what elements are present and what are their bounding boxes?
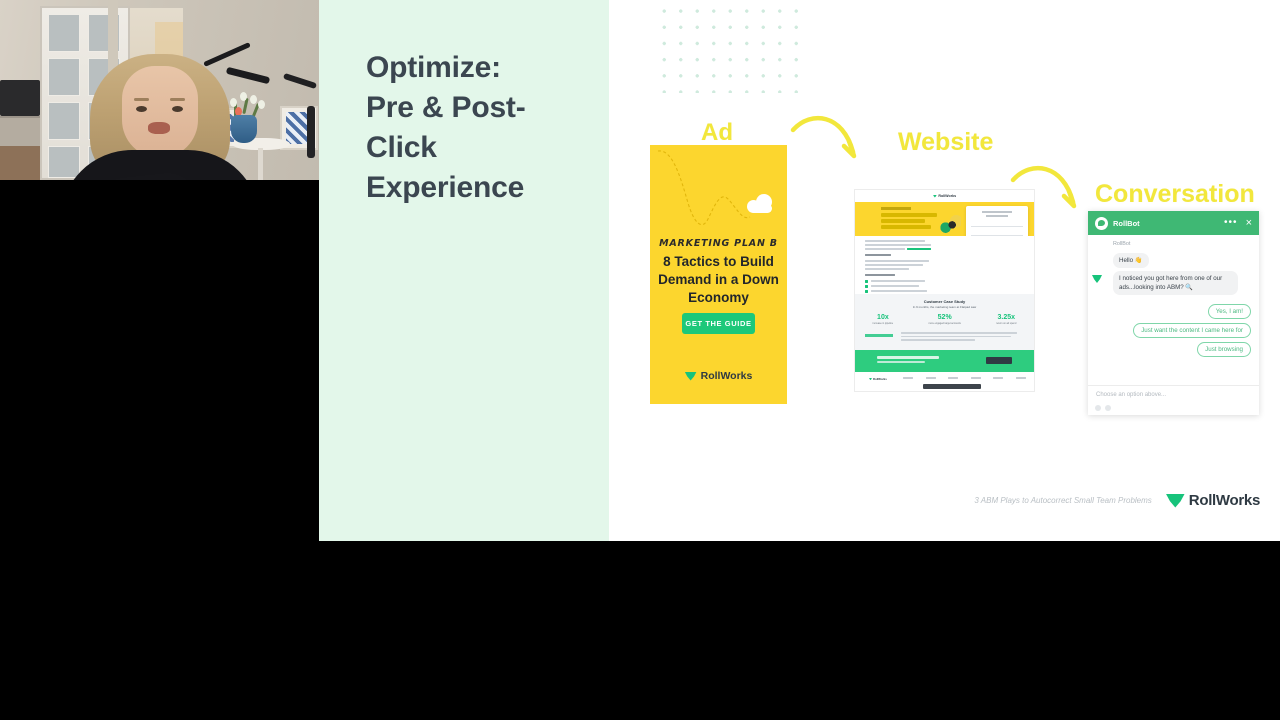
case-study-stats: 10x increase in pipeline 52% more engage…	[855, 314, 1034, 325]
case-study-stat: 3.25x return on ad spend	[996, 314, 1016, 325]
rollworks-mark-icon	[1166, 494, 1185, 508]
ad-brand-logo: RollWorks	[650, 370, 787, 382]
quick-reply-option[interactable]: Just want the content I came here for	[1133, 323, 1251, 338]
rollworks-mark-icon	[685, 372, 697, 381]
bot-avatar-icon	[1095, 217, 1108, 230]
rollworks-mark-icon	[869, 378, 872, 380]
deck-title: 3 ABM Plays to Autocorrect Small Team Pr…	[974, 496, 1151, 505]
stat-value: 10x	[873, 314, 893, 321]
case-study-subtitle: In 9 months, the marketing team at Flatp…	[855, 305, 1034, 309]
website-footer: RollWorks	[855, 372, 1034, 391]
title-line-1: Optimize:	[366, 48, 586, 88]
case-study-quote	[901, 332, 1024, 341]
website-footer-bar	[923, 384, 981, 389]
chat-input-area[interactable]: Choose an option above...	[1088, 385, 1259, 415]
chat-sender-label: RollBot	[1113, 241, 1251, 247]
website-footer-logo: RollWorks	[869, 377, 887, 381]
footer-brand-name: RollWorks	[873, 377, 887, 381]
website-cta-banner	[855, 350, 1034, 372]
rollworks-mark-icon	[1092, 275, 1102, 283]
chat-quick-replies: Yes, I am! Just want the content I came …	[1096, 304, 1251, 357]
chat-bot-name: RollBot	[1113, 219, 1219, 228]
case-study-client-logo	[865, 334, 893, 337]
stage-label-website: Website	[898, 128, 993, 157]
ad-eyebrow: MARKETING PLAN B	[650, 238, 787, 249]
webcam-tv	[0, 80, 40, 116]
arrow-ad-to-website	[787, 108, 867, 183]
website-hero-banner	[855, 202, 1034, 236]
footer-brand-logo: RollWorks	[1166, 492, 1260, 509]
footer-brand-name: RollWorks	[1189, 492, 1260, 509]
website-body-copy	[855, 236, 1034, 294]
title-line-2: Pre & Post-	[366, 88, 586, 128]
chat-input-tools[interactable]	[1095, 405, 1111, 411]
page-title: Optimize: Pre & Post- Click Experience	[366, 48, 586, 208]
chat-header: RollBot ••• ×	[1088, 211, 1259, 235]
quick-reply-option[interactable]: Yes, I am!	[1208, 304, 1251, 319]
stat-value: 52%	[928, 314, 960, 321]
stat-caption: return on ad spend	[996, 322, 1016, 325]
attachment-icon[interactable]	[1095, 405, 1101, 411]
website-screenshot[interactable]: RollWorks	[855, 190, 1034, 391]
case-study-stat: 10x increase in pipeline	[873, 314, 893, 325]
webcam-video-feed[interactable]	[0, 0, 319, 180]
chat-widget[interactable]: RollBot ••• × RollBot Hello 👋 I noticed …	[1088, 211, 1259, 415]
title-line-3: Click	[366, 128, 586, 168]
chat-menu-icon[interactable]: •••	[1224, 220, 1238, 226]
slide-footer: 3 ABM Plays to Autocorrect Small Team Pr…	[974, 492, 1260, 509]
chat-input-placeholder: Choose an option above...	[1096, 392, 1166, 398]
ad-creative-card[interactable]: MARKETING PLAN B 8 Tactics to Build Dema…	[650, 145, 787, 404]
stage-label-conversation: Conversation	[1095, 180, 1255, 209]
chat-message-list: RollBot Hello 👋 I noticed you got here f…	[1088, 235, 1259, 385]
webcam-presenter	[60, 54, 260, 180]
rollworks-mark-icon	[933, 195, 937, 198]
slide-title-panel: Optimize: Pre & Post- Click Experience	[319, 0, 609, 541]
website-header: RollWorks	[855, 190, 1034, 202]
stat-caption: more engaged target accounts	[928, 322, 960, 325]
close-icon[interactable]: ×	[1246, 218, 1252, 229]
presentation-screen: Optimize: Pre & Post- Click Experience A…	[0, 0, 1280, 720]
ad-headline: 8 Tactics to Build Demand in a Down Econ…	[658, 253, 779, 307]
ad-cloud-icon	[747, 193, 773, 213]
stat-caption: increase in pipeline	[873, 322, 893, 325]
website-case-study-section: Customer Case Study In 9 months, the mar…	[855, 294, 1034, 350]
slide-canvas: Optimize: Pre & Post- Click Experience A…	[319, 0, 1280, 541]
chat-message-bubble: I noticed you got here from one of our a…	[1113, 271, 1238, 295]
ad-cta-button[interactable]: GET THE GUIDE	[682, 313, 755, 334]
website-brand-name: RollWorks	[938, 194, 956, 198]
hero-illustration	[939, 215, 961, 233]
case-study-stat: 52% more engaged target accounts	[928, 314, 960, 325]
website-footer-nav[interactable]	[903, 377, 1026, 379]
case-study-title: Customer Case Study	[855, 299, 1034, 304]
stat-value: 3.25x	[996, 314, 1016, 321]
decorative-dot-grid	[656, 3, 808, 93]
quick-reply-option[interactable]: Just browsing	[1197, 342, 1251, 357]
stage-label-ad: Ad	[701, 119, 733, 147]
website-logo: RollWorks	[933, 194, 956, 198]
ad-brand-name: RollWorks	[701, 370, 753, 382]
emoji-icon[interactable]	[1105, 405, 1111, 411]
title-line-4: Experience	[366, 168, 586, 208]
chat-message-bubble: Hello 👋	[1113, 253, 1149, 268]
website-cta-button[interactable]	[986, 357, 1012, 364]
